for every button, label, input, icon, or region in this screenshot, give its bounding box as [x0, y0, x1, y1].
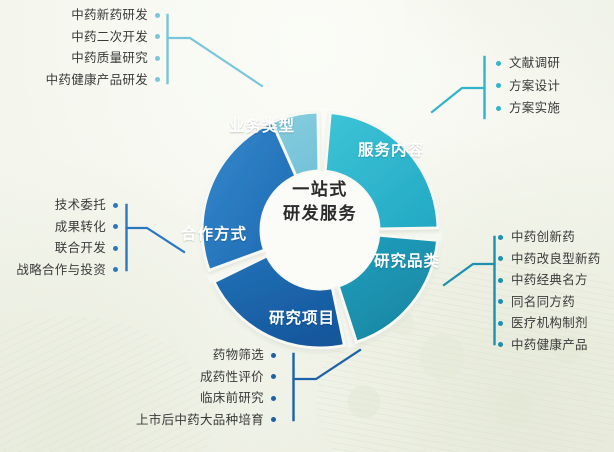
list-item: 药物筛选: [4, 349, 276, 362]
list-item: 医疗机构制剂: [498, 317, 614, 330]
bullet-icon: [155, 77, 160, 82]
list-item-label: 同名同方药: [511, 296, 575, 309]
connector-right: [444, 237, 495, 344]
list-item-label: 成果转化: [55, 221, 106, 234]
list-item-label: 中药新药研发: [71, 9, 148, 22]
list-item: 临床前研究: [4, 392, 276, 405]
list-item-label: 中药二次开发: [71, 31, 148, 44]
list-bottom: 药物筛选成药性评价临床前研究上市后中药大品种培育: [4, 349, 276, 426]
list-item-label: 成药性评价: [200, 371, 264, 384]
connector-top-right-branch: [432, 88, 485, 112]
connector-left: [127, 205, 185, 270]
list-item-label: 中药质量研究: [71, 52, 148, 65]
connector-top-left-branch: [168, 38, 263, 86]
list-item-label: 中药经典名方: [511, 274, 588, 287]
list-item-label: 中药健康产品: [511, 339, 588, 352]
bullet-icon: [271, 374, 276, 379]
bullet-icon: [271, 417, 276, 422]
list-item: 文献调研: [496, 57, 608, 70]
list-top-right: 文献调研方案设计方案实施: [496, 57, 608, 115]
list-item: 战略合作与投资: [6, 264, 118, 277]
bullet-icon: [498, 321, 503, 326]
bullet-icon: [271, 396, 276, 401]
list-top-left: 中药新药研发中药二次开发中药质量研究中药健康产品研发: [10, 9, 160, 86]
segment-label-research-category: 研究品类: [374, 249, 440, 271]
bullet-icon: [496, 61, 501, 66]
list-item: 中药质量研究: [10, 52, 160, 65]
list-item: 成药性评价: [4, 371, 276, 384]
bullet-icon: [496, 83, 501, 88]
bullet-icon: [498, 278, 503, 283]
segment-label-research-project: 研究项目: [269, 306, 335, 328]
list-item: 中药新药研发: [10, 9, 160, 22]
bullet-icon: [113, 267, 118, 272]
list-item-label: 联合开发: [55, 242, 106, 255]
connector-bottom-branch: [294, 350, 361, 379]
list-item: 成果转化: [6, 221, 118, 234]
list-item: 技术委托: [6, 199, 118, 212]
connector-right-branch: [444, 264, 495, 285]
connector-bottom: [294, 350, 361, 420]
list-item-label: 上市后中药大品种培育: [136, 414, 264, 427]
list-item-label: 技术委托: [55, 199, 106, 212]
list-item: 中药健康产品: [498, 339, 614, 352]
connector-left-branch: [127, 228, 185, 252]
list-item: 中药改良型新药: [498, 253, 614, 266]
list-item: 中药二次开发: [10, 31, 160, 44]
list-item-label: 中药健康产品研发: [46, 74, 148, 87]
bullet-icon: [155, 34, 160, 39]
list-item-label: 医疗机构制剂: [511, 317, 588, 330]
list-right: 中药创新药中药改良型新药中药经典名方同名同方药医疗机构制剂中药健康产品: [498, 231, 614, 351]
center-title-line1: 一站式: [260, 178, 380, 202]
connector-top-left: [168, 15, 263, 86]
list-item: 中药健康产品研发: [10, 74, 160, 87]
bullet-icon: [498, 235, 503, 240]
list-item: 方案设计: [496, 80, 608, 93]
bullet-icon: [155, 13, 160, 18]
list-item-label: 中药改良型新药: [511, 253, 601, 266]
bullet-icon: [113, 246, 118, 251]
bullet-icon: [155, 56, 160, 61]
bullet-icon: [496, 106, 501, 111]
list-left: 技术委托成果转化联合开发战略合作与投资: [6, 199, 118, 276]
segment-label-cooperation-mode: 合作方式: [181, 222, 247, 244]
list-item-label: 文献调研: [509, 57, 560, 70]
bullet-icon: [498, 256, 503, 261]
bullet-icon: [271, 353, 276, 358]
bullet-icon: [113, 224, 118, 229]
center-title-line2: 研发服务: [260, 202, 380, 226]
segment-label-service-content: 服务内容: [358, 138, 424, 160]
bullet-icon: [113, 203, 118, 208]
list-item-label: 方案设计: [509, 80, 560, 93]
bullet-icon: [498, 342, 503, 347]
connector-top-right: [432, 57, 485, 118]
list-item: 中药创新药: [498, 231, 614, 244]
center-title: 一站式 研发服务: [260, 178, 380, 226]
infographic-canvas: 业务类型 服务内容 研究品类 研究项目 合作方式 一站式 研发服务 中药新药研发…: [0, 0, 614, 452]
segment-label-business-type: 业务类型: [229, 114, 295, 136]
list-item-label: 药物筛选: [213, 349, 264, 362]
list-item-label: 方案实施: [509, 102, 560, 115]
list-item-label: 中药创新药: [511, 231, 575, 244]
list-item: 联合开发: [6, 242, 118, 255]
list-item-label: 战略合作与投资: [16, 264, 106, 277]
list-item: 上市后中药大品种培育: [4, 414, 276, 427]
bullet-icon: [498, 299, 503, 304]
list-item: 方案实施: [496, 102, 608, 115]
list-item-label: 临床前研究: [200, 392, 264, 405]
list-item: 同名同方药: [498, 296, 614, 309]
list-item: 中药经典名方: [498, 274, 614, 287]
